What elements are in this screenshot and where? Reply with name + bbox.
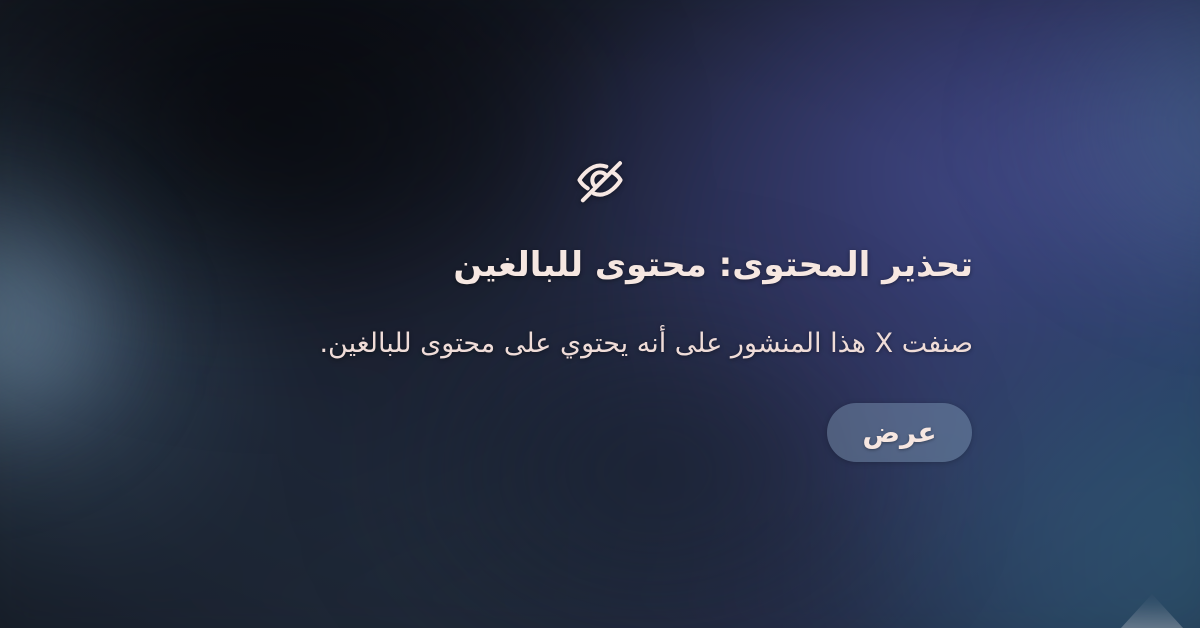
content-warning-overlay: تحذير المحتوى: محتوى للبالغين صنفت X هذا… <box>0 0 1200 628</box>
page-title: تحذير المحتوى: محتوى للبالغين <box>227 243 973 288</box>
eye-off-icon <box>573 157 627 207</box>
view-button[interactable]: عرض <box>827 403 972 462</box>
warning-description: صنفت X هذا المنشور على أنه يحتوي على محت… <box>227 325 973 363</box>
warning-content: تحذير المحتوى: محتوى للبالغين صنفت X هذا… <box>0 0 1200 628</box>
